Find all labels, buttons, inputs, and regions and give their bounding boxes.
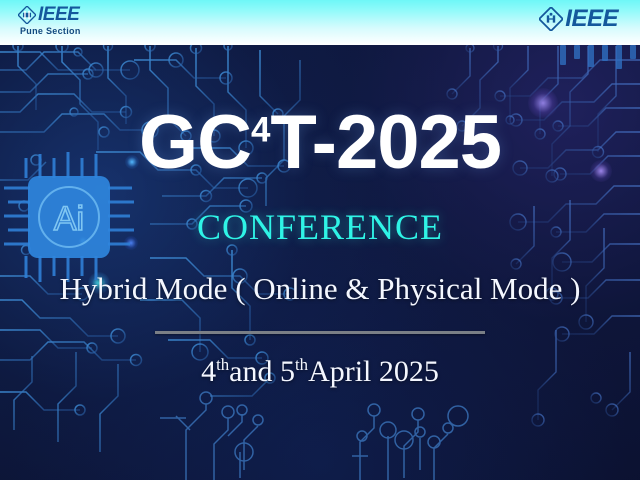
conference-poster: Ai IEEE Pune Section <box>0 0 640 480</box>
event-date-day1-suffix: th <box>216 355 229 374</box>
ieee-section-label: Pune Section <box>20 26 81 36</box>
event-date-month-year: April 2025 <box>308 355 439 388</box>
poster-content: GC4T-2025 CONFERENCE Hybrid Mode ( Onlin… <box>0 45 640 480</box>
ieee-wordmark: IEEE <box>38 5 79 24</box>
conference-subtitle: CONFERENCE <box>197 209 443 245</box>
ieee-wordmark: IEEE <box>565 7 618 31</box>
event-date-day2: 5 <box>280 355 295 388</box>
ieee-diamond-logo-icon <box>539 7 563 31</box>
event-date-day2-suffix: th <box>295 355 308 374</box>
header-band: IEEE Pune Section IEEE <box>0 0 640 45</box>
conference-title: GC4T-2025 <box>139 105 501 181</box>
conference-title-tail: T-2025 <box>270 100 501 185</box>
divider <box>155 331 485 334</box>
conference-title-superscript: 4 <box>251 111 270 150</box>
ieee-pune-section-logo[interactable]: IEEE Pune Section <box>18 5 81 36</box>
event-date-conjunction: and <box>229 355 280 388</box>
ieee-logo[interactable]: IEEE <box>539 7 618 31</box>
event-date: 4thand 5thApril 2025 <box>201 357 439 387</box>
conference-title-main: GC <box>139 100 251 185</box>
event-date-day1: 4 <box>201 355 216 388</box>
ieee-diamond-logo-icon <box>18 6 36 24</box>
event-mode-label: Hybrid Mode ( Online & Physical Mode ) <box>60 273 581 304</box>
